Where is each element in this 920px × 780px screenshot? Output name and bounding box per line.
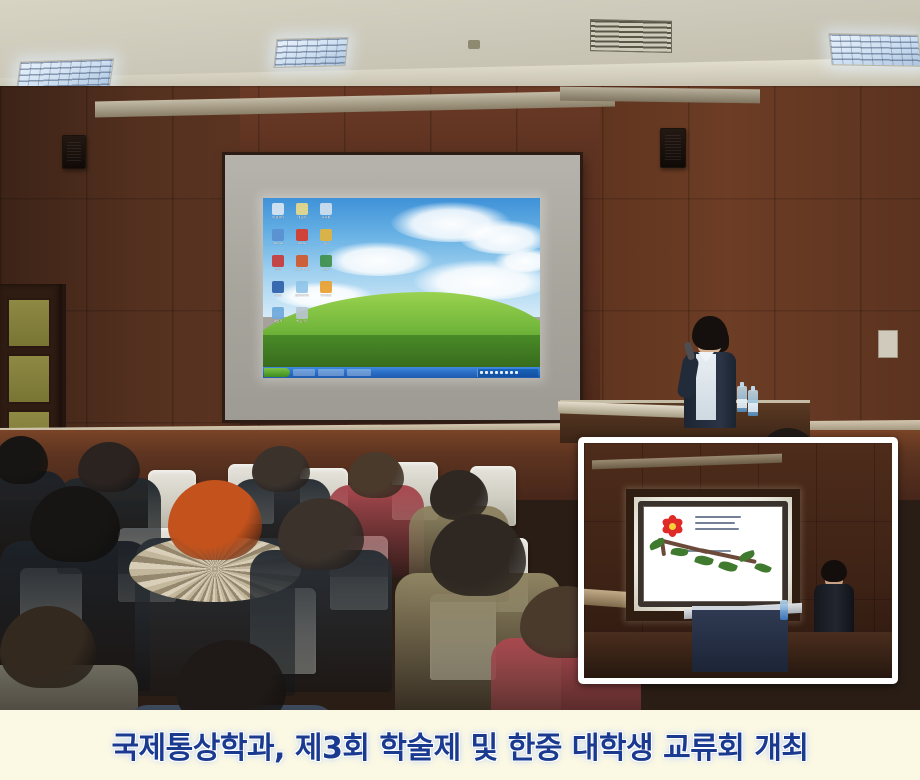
speaker-hair — [692, 316, 728, 350]
desktop-icon-glyph — [320, 203, 332, 215]
desktop-icon[interactable]: 휴지통 — [315, 203, 337, 219]
desktop-icon-label: 휴지통 — [315, 216, 337, 219]
xp-taskbar-button[interactable] — [293, 369, 315, 376]
water-bottle-icon — [748, 390, 758, 416]
desktop-icon-label: Word — [267, 294, 289, 297]
desktop-icon-glyph — [272, 255, 284, 267]
audience-person-head — [430, 470, 488, 520]
desktop-icon-label: 알집 — [315, 242, 337, 245]
flower-center-icon — [669, 523, 676, 530]
slide-text-line — [695, 516, 741, 518]
desktop-icon-glyph — [272, 229, 284, 241]
desktop-icon[interactable]: Word — [267, 281, 289, 297]
speaker-person — [678, 316, 740, 426]
desktop-icon-label: 메신저 — [267, 320, 289, 323]
audience-person-head — [430, 514, 526, 596]
desktop-icon[interactable]: Internet — [267, 229, 289, 245]
desktop-icon-glyph — [272, 281, 284, 293]
desktop-icon[interactable]: 내 문서 — [291, 203, 313, 219]
desktop-icon[interactable]: 알집 — [315, 229, 337, 245]
tray-icon[interactable] — [515, 371, 518, 374]
desktop-icon-glyph — [272, 307, 284, 319]
audience-person-head — [0, 436, 48, 484]
xp-taskbar-button[interactable] — [347, 369, 371, 376]
desktop-icon[interactable]: 메신저 — [267, 307, 289, 323]
tray-icon[interactable] — [500, 371, 503, 374]
caption-title: 국제통상학과, 제3회 학술제 및 한중 대학생 교류회 개최 — [111, 723, 808, 767]
desktop-icon-label: 곰플레이어 — [291, 294, 313, 297]
desktop-icon-glyph — [320, 255, 332, 267]
desktop-icon-glyph — [320, 281, 332, 293]
projection-screen-surface: 내 컴퓨터내 문서휴지통InternetAdobe알집한글PowerPointE… — [263, 198, 540, 378]
desktop-icon-label: Internet — [267, 242, 289, 245]
flower-icon — [659, 514, 685, 540]
ceiling-light-panel-icon — [273, 37, 348, 68]
desktop-icon-glyph — [296, 307, 308, 319]
desktop-icon-glyph — [320, 229, 332, 241]
desktop-icon[interactable]: 곰플레이어 — [291, 281, 313, 297]
tray-icon[interactable] — [505, 371, 508, 374]
desktop-icon-label: PowerPoint — [291, 268, 313, 271]
audience-person-head — [78, 442, 140, 492]
desktop-icon[interactable]: Adobe — [291, 229, 313, 245]
inset-presenter-hair — [821, 560, 847, 582]
soffit-beam — [560, 87, 760, 104]
audience-person-head — [252, 446, 310, 492]
inset-projection-screen — [626, 489, 800, 621]
xp-start-button[interactable] — [264, 368, 290, 377]
desktop-icon-label: 바로가기 — [291, 320, 313, 323]
desktop-icon[interactable]: 바로가기 — [291, 307, 313, 323]
tray-icon[interactable] — [490, 371, 493, 374]
wall-speaker-icon — [62, 135, 86, 169]
desktop-icon-glyph — [296, 203, 308, 215]
tray-icon[interactable] — [495, 371, 498, 374]
desktop-icon-glyph — [272, 203, 284, 215]
xp-taskbar-button[interactable] — [318, 369, 344, 376]
desktop-icon-glyph — [296, 229, 308, 241]
tray-icon[interactable] — [480, 371, 483, 374]
inset-photo — [578, 437, 898, 684]
door-pane — [7, 298, 51, 348]
desktop-icon-label: 네이트온 — [315, 294, 337, 297]
desktop-icon[interactable]: 내 컴퓨터 — [267, 203, 289, 219]
wall-control-box-icon — [878, 330, 898, 358]
desktop-icon-grid: 내 컴퓨터내 문서휴지통InternetAdobe알집한글PowerPointE… — [267, 201, 341, 362]
desktop-icon-label: 내 문서 — [291, 216, 313, 219]
leaf-icon — [718, 559, 738, 574]
xp-system-tray[interactable] — [477, 369, 538, 377]
inset-podium — [692, 606, 788, 672]
desktop-icon[interactable]: PowerPoint — [291, 255, 313, 271]
desktop-icon-label: Adobe — [291, 242, 313, 245]
ceiling-light-panel-icon — [828, 33, 920, 67]
desktop-icon[interactable]: Excel — [315, 255, 337, 271]
desktop-icon-label: 내 컴퓨터 — [267, 216, 289, 219]
speaker-shirt — [696, 354, 716, 420]
slide-text-line — [695, 522, 735, 524]
desktop-icon-label: 한글 — [267, 268, 289, 271]
desktop-icon-label: Excel — [315, 268, 337, 271]
main-photo: 내 컴퓨터내 문서휴지통InternetAdobe알집한글PowerPointE… — [0, 0, 920, 710]
desktop-icon[interactable]: 네이트온 — [315, 281, 337, 297]
inset-photo-content — [584, 443, 892, 678]
leaf-icon — [694, 553, 714, 567]
inset-slide — [638, 501, 788, 607]
inset-screen-surface — [634, 497, 792, 611]
desktop-icon-glyph — [296, 255, 308, 267]
audience-person-head — [348, 452, 404, 498]
desktop-icon-glyph — [296, 281, 308, 293]
leaf-icon — [754, 561, 772, 575]
desktop-icon[interactable]: 한글 — [267, 255, 289, 271]
caption-bar: 국제통상학과, 제3회 학술제 및 한중 대학생 교류회 개최 — [0, 710, 920, 780]
tray-icon[interactable] — [510, 371, 513, 374]
projection-screen: 내 컴퓨터내 문서휴지통InternetAdobe알집한글PowerPointE… — [225, 155, 580, 420]
xp-taskbar[interactable] — [263, 367, 540, 378]
slide-text-line — [695, 528, 739, 530]
ceiling-fixture-icon — [468, 40, 480, 49]
inset-water-bottle-icon — [780, 600, 788, 620]
tray-icon[interactable] — [485, 371, 488, 374]
wall-speaker-icon — [660, 128, 686, 168]
door-pane — [7, 354, 51, 404]
screenshot-root: 내 컴퓨터내 문서휴지통InternetAdobe알집한글PowerPointE… — [0, 0, 920, 780]
ceiling-vent-icon — [590, 19, 672, 53]
